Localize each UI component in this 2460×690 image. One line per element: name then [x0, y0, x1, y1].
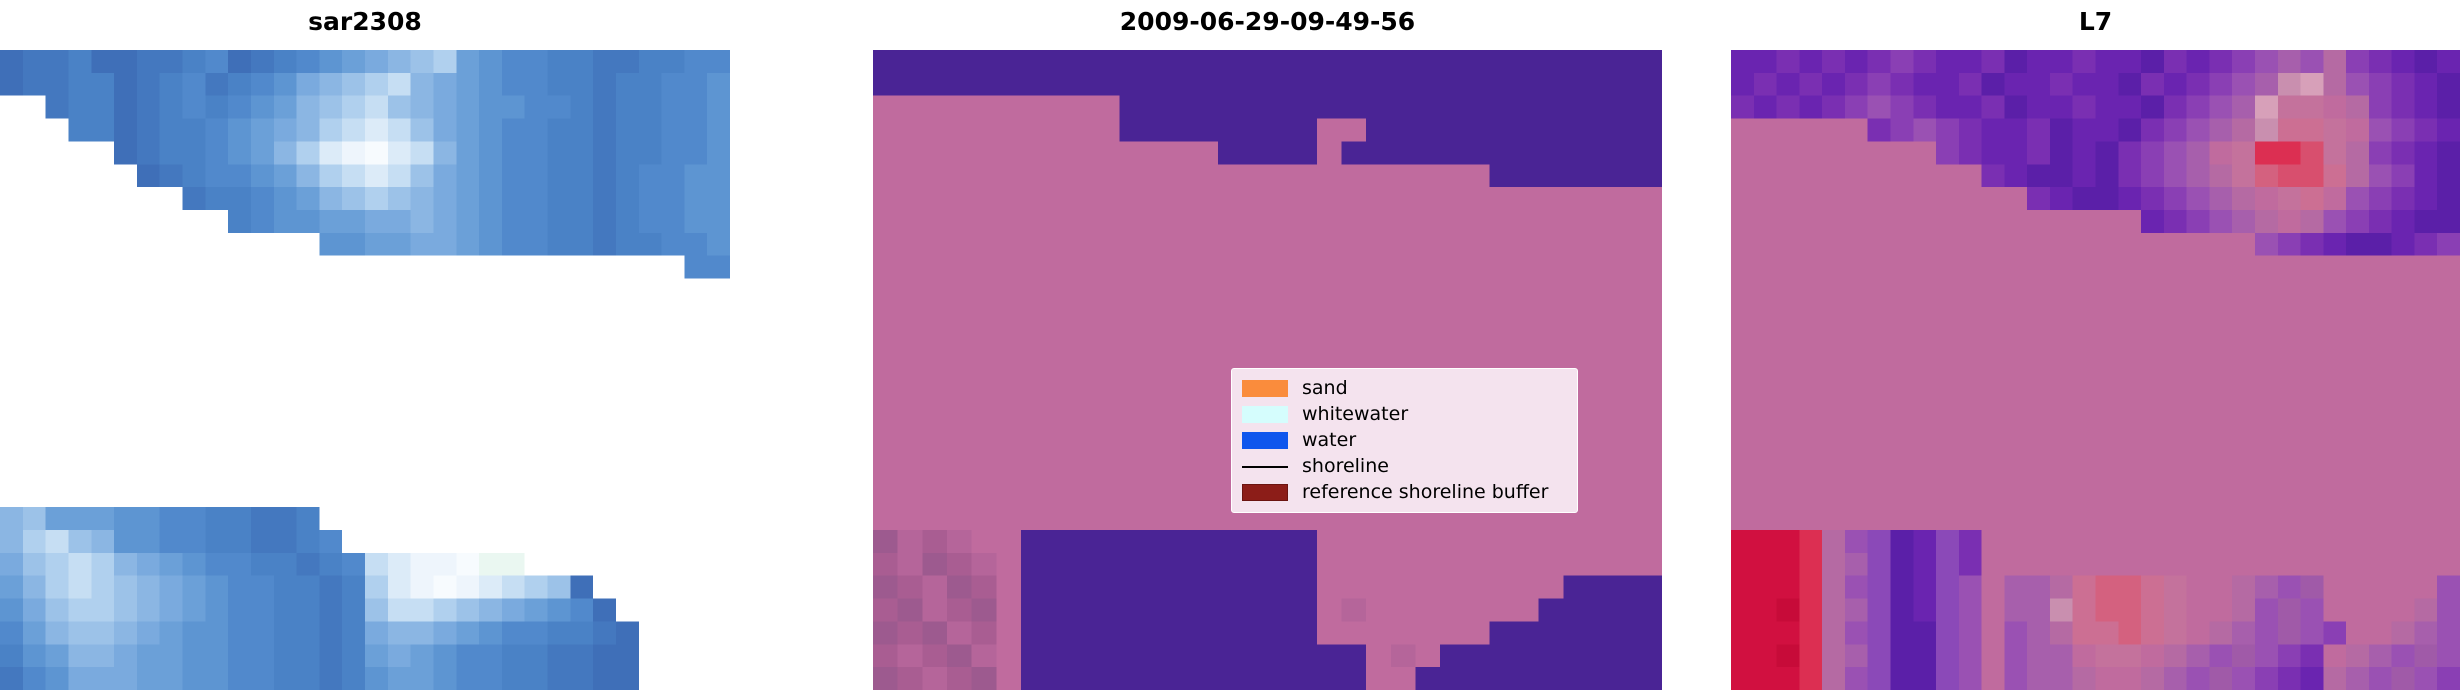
l7-image-axes [1731, 50, 2460, 690]
panel-title-sar: sar2308 [0, 2, 730, 42]
panel-sar2308: sar2308 [0, 0, 730, 690]
legend-label-reference-shoreline-buffer: reference shoreline buffer [1302, 482, 1548, 502]
water-color-swatch-icon [1242, 432, 1288, 449]
legend: sand whitewater water shoreline referenc… [1231, 368, 1578, 513]
legend-label-sand: sand [1302, 378, 1348, 398]
legend-item-sand: sand [1242, 375, 1567, 401]
panel-title-classification: 2009-06-29-09-49-56 [873, 2, 1662, 42]
legend-label-shoreline: shoreline [1302, 456, 1389, 476]
panel-classification: 2009-06-29-09-49-56 [873, 0, 1662, 690]
reference-shoreline-buffer-color-swatch-icon [1242, 484, 1288, 501]
legend-item-water: water [1242, 427, 1567, 453]
legend-item-shoreline: shoreline [1242, 453, 1567, 479]
legend-label-water: water [1302, 430, 1356, 450]
shoreline-line-icon [1242, 458, 1288, 475]
sar-image-canvas [0, 50, 730, 690]
sar-image-axes [0, 50, 730, 690]
whitewater-color-swatch-icon [1242, 406, 1288, 423]
l7-image-canvas [1731, 50, 2460, 690]
legend-item-reference-shoreline-buffer: reference shoreline buffer [1242, 479, 1567, 505]
legend-item-whitewater: whitewater [1242, 401, 1567, 427]
sand-color-swatch-icon [1242, 380, 1288, 397]
figure-root: sar2308 2009-06-29-09-49-56 L7 sand whit… [0, 0, 2460, 690]
panel-title-l7: L7 [1731, 2, 2460, 42]
legend-label-whitewater: whitewater [1302, 404, 1408, 424]
panel-l7: L7 [1731, 0, 2460, 690]
